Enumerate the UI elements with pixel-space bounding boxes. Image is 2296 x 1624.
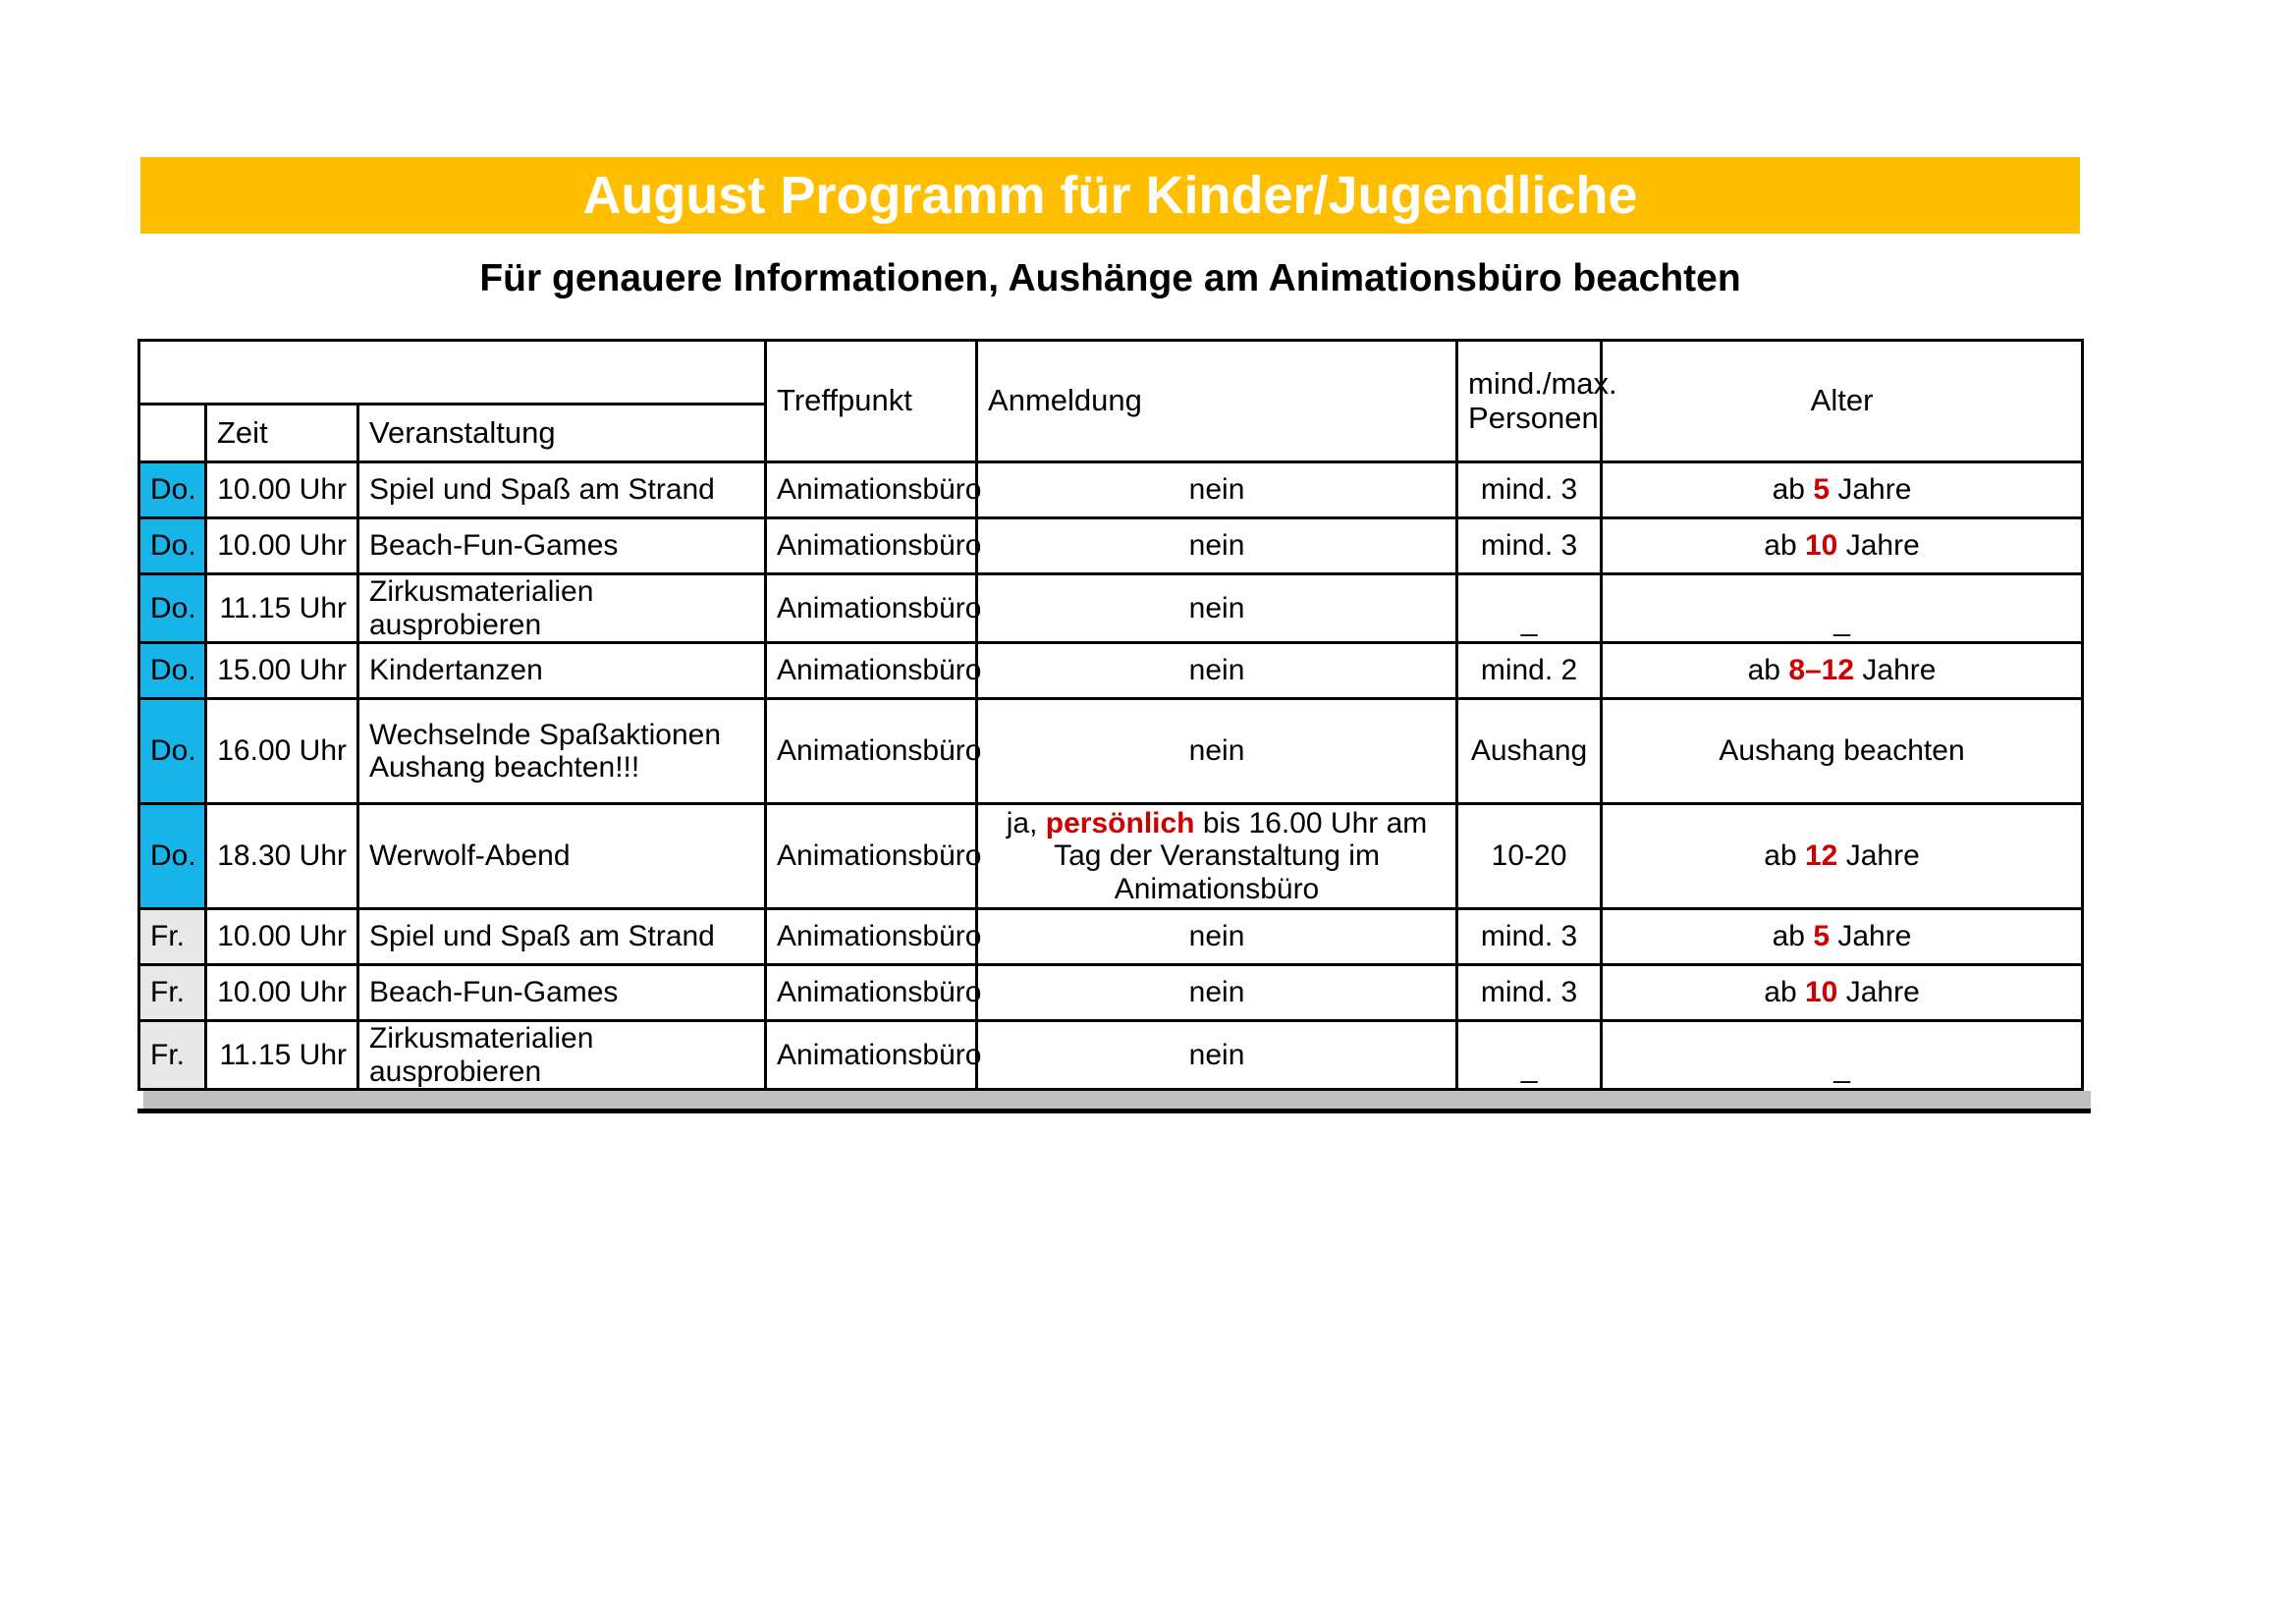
cell-event: Spiel und Spaß am Strand — [358, 462, 766, 518]
table-row: Do.10.00 UhrSpiel und Spaß am StrandAnim… — [139, 462, 2083, 518]
registration-highlight: persönlich — [1046, 807, 1195, 839]
age-highlight: 12 — [1805, 839, 1837, 872]
cell-age: _ — [1602, 1021, 2083, 1090]
age-highlight: 5 — [1813, 920, 1830, 952]
cell-event: Beach-Fun-Games — [358, 965, 766, 1021]
table-shadow-band — [143, 1091, 2091, 1109]
cell-event-line-1: Wechselnde Spaßaktionen — [369, 719, 754, 752]
table-header-row-1: Änderungen vorbehalten! Treffpunkt Anmel… — [139, 341, 2083, 405]
age-highlight: 10 — [1805, 976, 1837, 1008]
cell-day: Do. — [139, 699, 206, 804]
cell-time: 11.15 Uhr — [206, 1021, 358, 1090]
cell-registration: nein — [977, 965, 1457, 1021]
cell-day: Do. — [139, 574, 206, 643]
cell-meeting-point: Animationsbüro — [766, 462, 977, 518]
cell-event: Spiel und Spaß am Strand — [358, 909, 766, 965]
cell-day: Do. — [139, 462, 206, 518]
table-row: Fr.10.00 UhrBeach-Fun-GamesAnimationsbür… — [139, 965, 2083, 1021]
cell-time: 10.00 Uhr — [206, 965, 358, 1021]
cell-day: Fr. — [139, 1021, 206, 1090]
table-row: Fr.11.15 UhrZirkusmaterialien ausprobier… — [139, 1021, 2083, 1090]
cell-meeting-point: Animationsbüro — [766, 518, 977, 574]
cell-age: ab 12 Jahre — [1602, 804, 2083, 909]
cell-event: Wechselnde SpaßaktionenAushang beachten!… — [358, 699, 766, 804]
cell-persons: mind. 3 — [1457, 909, 1602, 965]
column-header-veranstaltung: Veranstaltung — [358, 405, 766, 462]
cell-persons: 10-20 — [1457, 804, 1602, 909]
age-highlight: 8–12 — [1788, 654, 1854, 686]
cell-persons: mind. 3 — [1457, 462, 1602, 518]
cell-time: 18.30 Uhr — [206, 804, 358, 909]
cell-persons: mind. 2 — [1457, 643, 1602, 699]
changes-reserved-notice: Änderungen vorbehalten! — [139, 341, 766, 405]
table-row: Do.10.00 UhrBeach-Fun-GamesAnimationsbür… — [139, 518, 2083, 574]
cell-meeting-point: Animationsbüro — [766, 965, 977, 1021]
cell-persons: _ — [1457, 574, 1602, 643]
personen-line-1: mind./max. — [1468, 367, 1590, 402]
cell-registration: nein — [977, 518, 1457, 574]
table-row: Do.16.00 UhrWechselnde SpaßaktionenAusha… — [139, 699, 2083, 804]
column-header-alter: Alter — [1602, 341, 2083, 462]
column-header-day — [139, 405, 206, 462]
table-row: Fr.10.00 UhrSpiel und Spaß am StrandAnim… — [139, 909, 2083, 965]
cell-registration: nein — [977, 909, 1457, 965]
column-header-treffpunkt: Treffpunkt — [766, 341, 977, 462]
cell-time: 11.15 Uhr — [206, 574, 358, 643]
title-banner: August Programm für Kinder/Jugendliche — [140, 157, 2080, 234]
cell-persons: mind. 3 — [1457, 965, 1602, 1021]
cell-day: Fr. — [139, 965, 206, 1021]
cell-persons: mind. 3 — [1457, 518, 1602, 574]
table-row: Do.11.15 UhrZirkusmaterialien ausprobier… — [139, 574, 2083, 643]
cell-event: Kindertanzen — [358, 643, 766, 699]
cell-meeting-point: Animationsbüro — [766, 1021, 977, 1090]
cell-persons-dash: _ — [1468, 579, 1590, 638]
page-subtitle: Für genauere Informationen, Aushänge am … — [140, 257, 2080, 300]
cell-meeting-point: Animationsbüro — [766, 909, 977, 965]
cell-time: 10.00 Uhr — [206, 462, 358, 518]
cell-meeting-point: Animationsbüro — [766, 643, 977, 699]
schedule-table-body: Änderungen vorbehalten! Treffpunkt Anmel… — [139, 341, 2083, 1090]
cell-event: Beach-Fun-Games — [358, 518, 766, 574]
schedule-table: Änderungen vorbehalten! Treffpunkt Anmel… — [137, 339, 2084, 1091]
cell-registration: nein — [977, 1021, 1457, 1090]
cell-time: 16.00 Uhr — [206, 699, 358, 804]
cell-event: Werwolf-Abend — [358, 804, 766, 909]
cell-age: ab 10 Jahre — [1602, 518, 2083, 574]
cell-age-dash: _ — [1613, 579, 2071, 638]
cell-persons-dash: _ — [1468, 1026, 1590, 1085]
program-flyer-page: August Programm für Kinder/Jugendliche F… — [0, 0, 2296, 1624]
cell-age: Aushang beachten — [1602, 699, 2083, 804]
cell-age: _ — [1602, 574, 2083, 643]
cell-day: Do. — [139, 804, 206, 909]
cell-day: Do. — [139, 518, 206, 574]
cell-time: 10.00 Uhr — [206, 909, 358, 965]
cell-registration: nein — [977, 462, 1457, 518]
column-header-anmeldung: Anmeldung — [977, 341, 1457, 462]
table-bottom-rule — [137, 1109, 2091, 1113]
page-title: August Programm für Kinder/Jugendliche — [582, 169, 1637, 222]
cell-age: ab 10 Jahre — [1602, 965, 2083, 1021]
cell-event: Zirkusmaterialien ausprobieren — [358, 574, 766, 643]
cell-meeting-point: Animationsbüro — [766, 699, 977, 804]
cell-day: Do. — [139, 643, 206, 699]
cell-registration: nein — [977, 643, 1457, 699]
cell-registration: ja, persönlich bis 16.00 Uhr am Tag der … — [977, 804, 1457, 909]
cell-time: 10.00 Uhr — [206, 518, 358, 574]
cell-registration: nein — [977, 574, 1457, 643]
cell-age: ab 8–12 Jahre — [1602, 643, 2083, 699]
cell-meeting-point: Animationsbüro — [766, 804, 977, 909]
cell-persons: Aushang — [1457, 699, 1602, 804]
column-header-personen: mind./max. Personen — [1457, 341, 1602, 462]
cell-event-line-2: Aushang beachten!!! — [369, 751, 754, 785]
column-header-zeit: Zeit — [206, 405, 358, 462]
table-row: Do.15.00 UhrKindertanzenAnimationsbürone… — [139, 643, 2083, 699]
cell-age-dash: _ — [1613, 1026, 2071, 1085]
cell-registration: nein — [977, 699, 1457, 804]
cell-age: ab 5 Jahre — [1602, 462, 2083, 518]
age-highlight: 5 — [1813, 473, 1830, 506]
cell-event: Zirkusmaterialien ausprobieren — [358, 1021, 766, 1090]
table-row: Do.18.30 UhrWerwolf-AbendAnimationsbüroj… — [139, 804, 2083, 909]
cell-time: 15.00 Uhr — [206, 643, 358, 699]
age-highlight: 10 — [1805, 529, 1837, 562]
cell-meeting-point: Animationsbüro — [766, 574, 977, 643]
cell-age: ab 5 Jahre — [1602, 909, 2083, 965]
cell-day: Fr. — [139, 909, 206, 965]
cell-persons: _ — [1457, 1021, 1602, 1090]
schedule-table-wrapper: Änderungen vorbehalten! Treffpunkt Anmel… — [137, 339, 2086, 1091]
personen-line-2: Personen — [1468, 402, 1590, 436]
